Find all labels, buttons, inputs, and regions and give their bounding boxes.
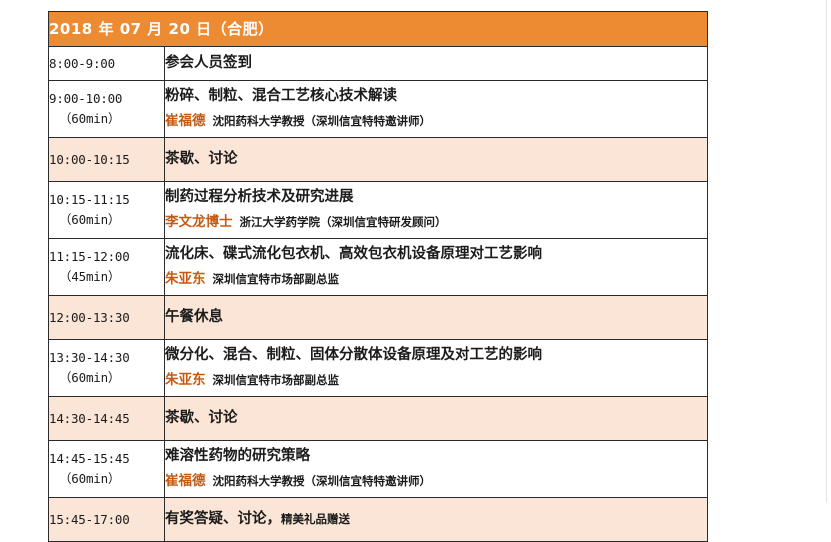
- schedule-topic: 午餐休息: [165, 306, 707, 328]
- schedule-session-duration: （60min）: [49, 210, 164, 230]
- schedule-speaker-name: 朱亚东: [165, 271, 206, 287]
- agenda-page: 2018 年 07 月 20 日（合肥） 8:00-9:00参会人员签到9:00…: [0, 0, 831, 503]
- schedule-topic: 流化床、碟式流化包衣机、高效包衣机设备原理对工艺影响: [165, 243, 707, 265]
- schedule-row: 10:00-10:15茶歇、讨论: [49, 138, 708, 182]
- schedule-speaker-name: 李文龙博士: [165, 214, 233, 230]
- schedule-speaker-affiliation: 沈阳药科大学教授（深圳信宜特特邀讲师）: [213, 114, 432, 128]
- schedule-content-cell: 参会人员签到: [165, 47, 708, 81]
- schedule-time-range: 14:45-15:45: [49, 449, 164, 469]
- schedule-row: 10:15-11:15（60min）制药过程分析技术及研究进展李文龙博士浙江大学…: [49, 182, 708, 239]
- schedule-topic: 有奖答疑、讨论，精美礼品赠送: [165, 508, 707, 530]
- schedule-time-range: 15:45-17:00: [49, 510, 164, 530]
- schedule-time-range: 9:00-10:00: [49, 89, 164, 109]
- schedule-date-title: 2018 年 07 月 20 日（合肥）: [49, 20, 274, 38]
- schedule-topic-text: 有奖答疑、讨论，: [165, 511, 281, 527]
- page-edge-divider: [826, 0, 827, 503]
- schedule-row: 15:45-17:00有奖答疑、讨论，精美礼品赠送: [49, 498, 708, 542]
- schedule-topic: 难溶性药物的研究策略: [165, 445, 707, 467]
- schedule-speaker-affiliation: 浙江大学药学院（深圳信宜特研发顾问）: [240, 215, 447, 229]
- schedule-header-row: 2018 年 07 月 20 日（合肥）: [49, 12, 708, 47]
- schedule-session-duration: （60min）: [49, 469, 164, 489]
- schedule-speaker-line: 崔福德沈阳药科大学教授（深圳信宜特特邀讲师）: [165, 108, 707, 133]
- schedule-speaker-line: 崔福德沈阳药科大学教授（深圳信宜特特邀讲师）: [165, 468, 707, 493]
- schedule-topic-text: 微分化、混合、制粒、固体分散体设备原理及对工艺的影响: [165, 347, 542, 363]
- schedule-time-range: 14:30-14:45: [49, 409, 164, 429]
- schedule-time-cell: 13:30-14:30（60min）: [49, 340, 165, 397]
- schedule-speaker-name: 朱亚东: [165, 372, 206, 388]
- schedule-time-range: 8:00-9:00: [49, 54, 164, 74]
- schedule-content-cell: 午餐休息: [165, 296, 708, 340]
- schedule-topic-text: 午餐休息: [165, 309, 223, 325]
- schedule-time-cell: 8:00-9:00: [49, 47, 165, 81]
- schedule-table-body: 2018 年 07 月 20 日（合肥） 8:00-9:00参会人员签到9:00…: [49, 12, 708, 542]
- schedule-content-cell: 制药过程分析技术及研究进展李文龙博士浙江大学药学院（深圳信宜特研发顾问）: [165, 182, 708, 239]
- schedule-time-cell: 9:00-10:00（60min）: [49, 81, 165, 138]
- schedule-topic: 粉碎、制粒、混合工艺核心技术解读: [165, 85, 707, 107]
- schedule-time-cell: 14:45-15:45（60min）: [49, 441, 165, 498]
- schedule-topic: 茶歇、讨论: [165, 407, 707, 429]
- schedule-session-duration: （45min）: [49, 267, 164, 287]
- schedule-topic-text: 难溶性药物的研究策略: [165, 448, 310, 464]
- schedule-content-cell: 微分化、混合、制粒、固体分散体设备原理及对工艺的影响朱亚东深圳信宜特市场部副总监: [165, 340, 708, 397]
- schedule-topic: 微分化、混合、制粒、固体分散体设备原理及对工艺的影响: [165, 344, 707, 366]
- schedule-topic: 茶歇、讨论: [165, 148, 707, 170]
- schedule-content-cell: 难溶性药物的研究策略崔福德沈阳药科大学教授（深圳信宜特特邀讲师）: [165, 441, 708, 498]
- schedule-header-cell: 2018 年 07 月 20 日（合肥）: [49, 12, 708, 47]
- schedule-content-cell: 有奖答疑、讨论，精美礼品赠送: [165, 498, 708, 542]
- schedule-content-cell: 茶歇、讨论: [165, 397, 708, 441]
- schedule-row: 13:30-14:30（60min）微分化、混合、制粒、固体分散体设备原理及对工…: [49, 340, 708, 397]
- schedule-time-cell: 14:30-14:45: [49, 397, 165, 441]
- schedule-time-cell: 15:45-17:00: [49, 498, 165, 542]
- schedule-row: 14:30-14:45茶歇、讨论: [49, 397, 708, 441]
- schedule-row: 9:00-10:00（60min）粉碎、制粒、混合工艺核心技术解读崔福德沈阳药科…: [49, 81, 708, 138]
- schedule-topic-text: 茶歇、讨论: [165, 410, 238, 426]
- schedule-topic-text: 粉碎、制粒、混合工艺核心技术解读: [165, 88, 397, 104]
- schedule-time-cell: 10:15-11:15（60min）: [49, 182, 165, 239]
- schedule-topic: 制药过程分析技术及研究进展: [165, 186, 707, 208]
- schedule-time-cell: 10:00-10:15: [49, 138, 165, 182]
- schedule-topic-note: 精美礼品赠送: [281, 512, 350, 526]
- schedule-content-cell: 茶歇、讨论: [165, 138, 708, 182]
- schedule-time-range: 10:00-10:15: [49, 150, 164, 170]
- schedule-topic: 参会人员签到: [165, 52, 707, 74]
- schedule-session-duration: （60min）: [49, 109, 164, 129]
- schedule-row: 14:45-15:45（60min）难溶性药物的研究策略崔福德沈阳药科大学教授（…: [49, 441, 708, 498]
- conference-schedule-table: 2018 年 07 月 20 日（合肥） 8:00-9:00参会人员签到9:00…: [48, 11, 708, 542]
- schedule-speaker-affiliation: 沈阳药科大学教授（深圳信宜特特邀讲师）: [213, 474, 432, 488]
- schedule-time-range: 10:15-11:15: [49, 190, 164, 210]
- schedule-topic-text: 茶歇、讨论: [165, 151, 238, 167]
- schedule-row: 8:00-9:00参会人员签到: [49, 47, 708, 81]
- schedule-speaker-name: 崔福德: [165, 113, 206, 129]
- schedule-time-range: 12:00-13:30: [49, 308, 164, 328]
- schedule-content-cell: 粉碎、制粒、混合工艺核心技术解读崔福德沈阳药科大学教授（深圳信宜特特邀讲师）: [165, 81, 708, 138]
- schedule-speaker-line: 朱亚东深圳信宜特市场部副总监: [165, 367, 707, 392]
- schedule-time-range: 13:30-14:30: [49, 348, 164, 368]
- schedule-row: 12:00-13:30午餐休息: [49, 296, 708, 340]
- schedule-topic-text: 流化床、碟式流化包衣机、高效包衣机设备原理对工艺影响: [165, 246, 542, 262]
- schedule-speaker-line: 朱亚东深圳信宜特市场部副总监: [165, 266, 707, 291]
- schedule-topic-text: 制药过程分析技术及研究进展: [165, 189, 354, 205]
- schedule-row: 11:15-12:00（45min）流化床、碟式流化包衣机、高效包衣机设备原理对…: [49, 239, 708, 296]
- schedule-session-duration: （60min）: [49, 368, 164, 388]
- schedule-speaker-line: 李文龙博士浙江大学药学院（深圳信宜特研发顾问）: [165, 209, 707, 234]
- schedule-speaker-affiliation: 深圳信宜特市场部副总监: [213, 373, 340, 387]
- schedule-time-range: 11:15-12:00: [49, 247, 164, 267]
- schedule-time-cell: 11:15-12:00（45min）: [49, 239, 165, 296]
- schedule-speaker-affiliation: 深圳信宜特市场部副总监: [213, 272, 340, 286]
- schedule-topic-text: 参会人员签到: [165, 55, 252, 71]
- schedule-content-cell: 流化床、碟式流化包衣机、高效包衣机设备原理对工艺影响朱亚东深圳信宜特市场部副总监: [165, 239, 708, 296]
- schedule-speaker-name: 崔福德: [165, 473, 206, 489]
- schedule-time-cell: 12:00-13:30: [49, 296, 165, 340]
